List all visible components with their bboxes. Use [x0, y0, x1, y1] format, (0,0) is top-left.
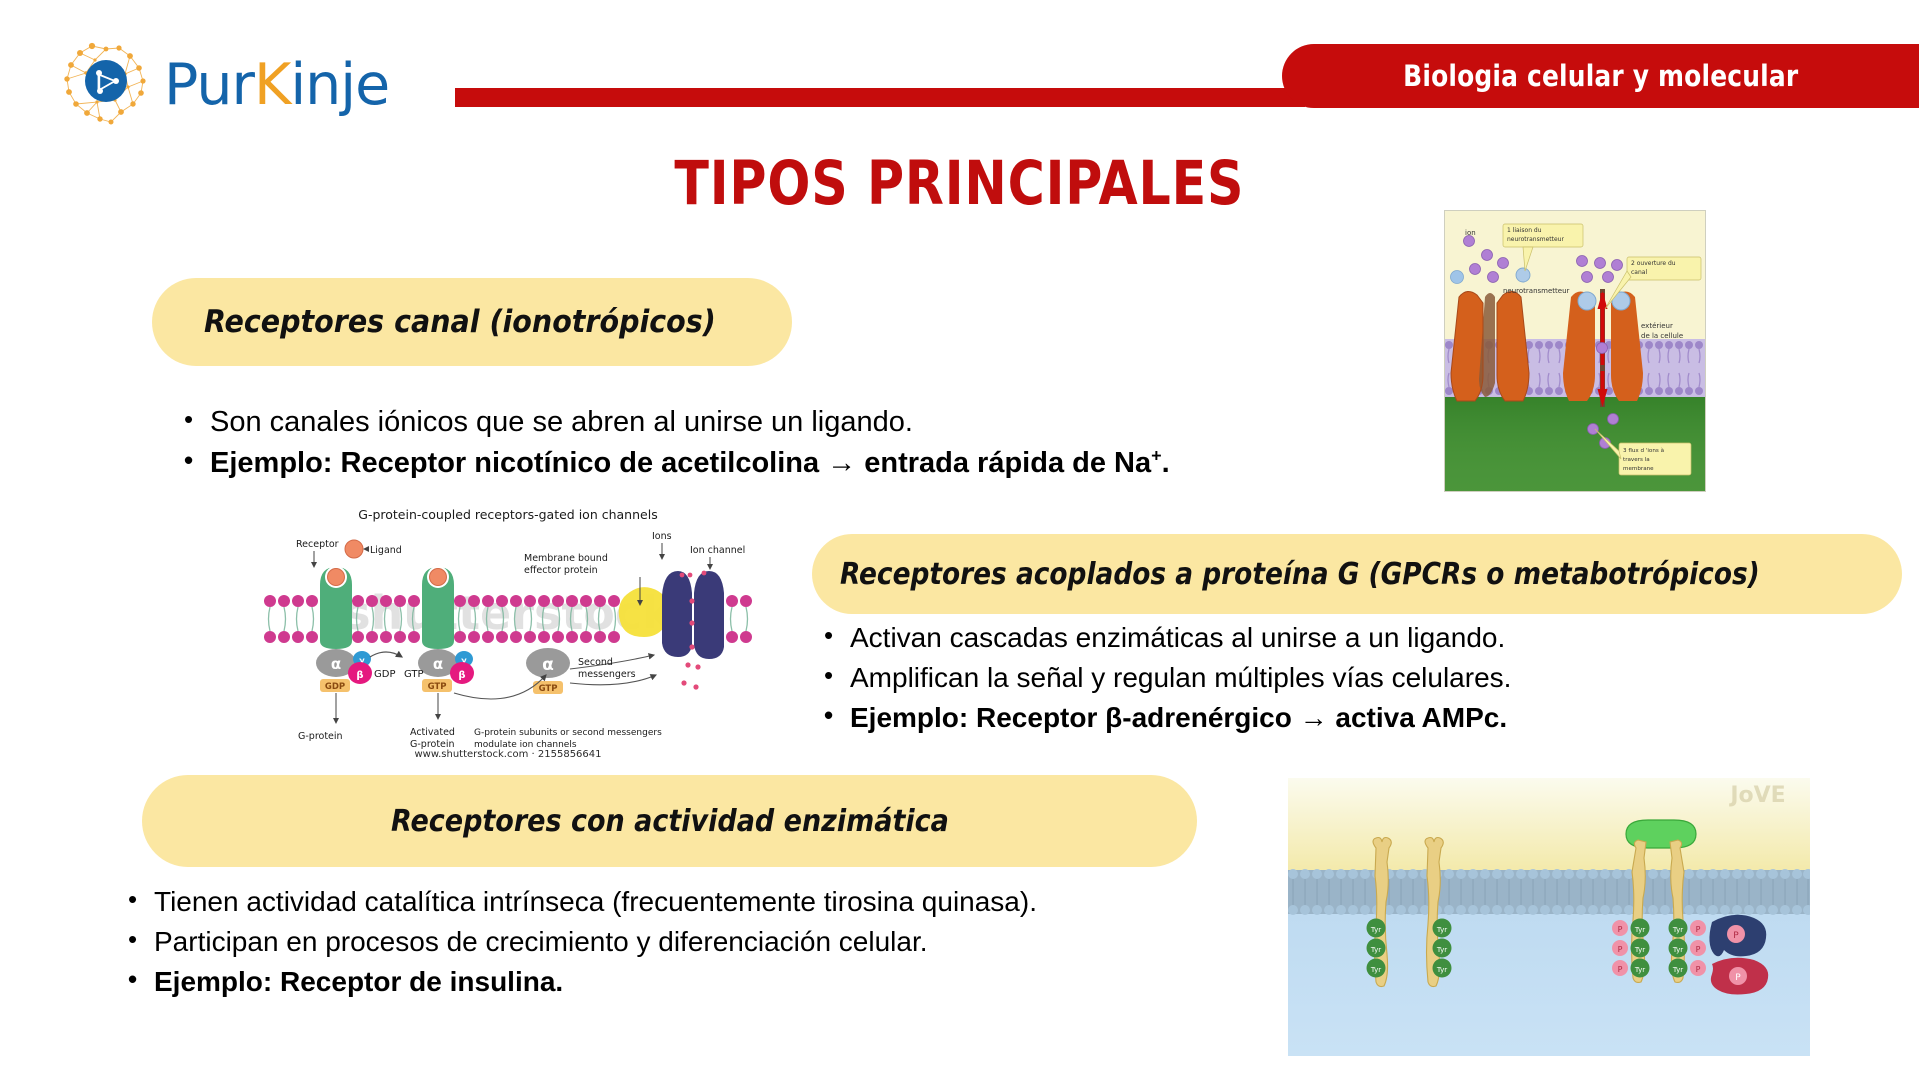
section-heading-label: Receptores con actividad enzimática — [391, 804, 949, 839]
svg-text:Ions: Ions — [652, 531, 672, 542]
svg-text:Receptor: Receptor — [296, 539, 339, 550]
page-header: PurKinje Biologia celular y molecular — [0, 0, 1919, 130]
purkinje-brain-network-logo-icon — [62, 40, 154, 126]
svg-text:Tyr: Tyr — [1370, 946, 1381, 954]
svg-text:de la cellule: de la cellule — [1641, 332, 1683, 340]
svg-text:Tyr: Tyr — [1436, 966, 1447, 974]
svg-text:P: P — [1696, 945, 1701, 954]
section-heading-label: Receptores canal (ionotrópicos) — [204, 304, 716, 340]
list-item: Ejemplo: Receptor de insulina. — [124, 962, 1037, 1002]
list-item: Amplifican la señal y regulan múltiples … — [820, 658, 1511, 698]
svg-text:Tyr: Tyr — [1634, 966, 1645, 974]
svg-text:Tyr: Tyr — [1634, 946, 1645, 954]
svg-text:Activated: Activated — [410, 727, 455, 738]
course-banner: Biologia celular y molecular — [1282, 44, 1919, 108]
bullet-list-enzymatic: Tienen actividad catalítica intrínseca (… — [124, 882, 1037, 1001]
svg-text:Tyr: Tyr — [1672, 926, 1683, 934]
list-item: Ejemplo: Receptor nicotínico de acetilco… — [180, 443, 1170, 484]
svg-text:Tyr: Tyr — [1436, 946, 1447, 954]
svg-text:P: P — [1735, 973, 1741, 983]
svg-text:Tyr: Tyr — [1672, 946, 1683, 954]
svg-text:GDP: GDP — [374, 669, 395, 680]
svg-text:β: β — [458, 670, 465, 681]
svg-text:neurotransmetteur: neurotransmetteur — [1503, 287, 1570, 295]
section-heading-ionotropic: Receptores canal (ionotrópicos) — [152, 278, 792, 366]
list-item: Tienen actividad catalítica intrínseca (… — [124, 882, 1037, 922]
svg-text:GTP: GTP — [428, 682, 447, 692]
svg-text:α: α — [542, 655, 554, 675]
svg-text:Ion channel: Ion channel — [690, 545, 745, 556]
svg-text:Tyr: Tyr — [1634, 926, 1645, 934]
list-item-text: Ejemplo: Receptor nicotínico de acetilco… — [210, 447, 1151, 479]
svg-text:GDP: GDP — [325, 682, 345, 692]
svg-text:canal: canal — [1631, 269, 1647, 276]
svg-text:Tyr: Tyr — [1370, 966, 1381, 974]
svg-text:P: P — [1618, 965, 1623, 974]
svg-text:2 ouverture du: 2 ouverture du — [1631, 260, 1676, 267]
svg-text:1 liaison du: 1 liaison du — [1507, 227, 1542, 234]
figure-ligand-gated-ion-channel: 1 liaison du neurotransmetteur 2 ouvertu… — [1444, 210, 1706, 492]
page-title: TIPOS PRINCIPALES — [0, 148, 1919, 219]
svg-text:Tyr: Tyr — [1672, 966, 1683, 974]
section-heading-label: Receptores acoplados a proteína G (GPCRs… — [840, 557, 1760, 592]
svg-text:G-protein: G-protein — [298, 731, 343, 742]
svg-text:ion: ion — [1465, 229, 1476, 237]
list-item: Ejemplo: Receptor β-adrenérgico → activa… — [820, 698, 1511, 738]
section-heading-gpcr: Receptores acoplados a proteína G (GPCRs… — [812, 534, 1902, 614]
svg-text:α: α — [331, 655, 341, 673]
logo-word-k: K — [254, 52, 290, 118]
svg-text:α: α — [433, 655, 443, 673]
svg-text:JoVE: JoVE — [1728, 783, 1785, 808]
figure-gpcr-gated-ion-channels: G-protein-coupled receptors-gated ion ch… — [258, 497, 758, 759]
svg-text:GTP: GTP — [404, 669, 424, 680]
brand-logo[interactable]: PurKinje — [62, 40, 389, 126]
header-rule-divider — [455, 88, 1305, 107]
logo-word-part1: Pur — [164, 52, 254, 118]
svg-text:G-protein-coupled receptors-ga: G-protein-coupled receptors-gated ion ch… — [358, 507, 657, 522]
list-item-tail: . — [1162, 447, 1170, 479]
svg-text:P: P — [1696, 965, 1701, 974]
svg-text:P: P — [1733, 931, 1739, 941]
course-banner-title: Biologia celular y molecular — [1403, 59, 1798, 93]
page-title-text: TIPOS PRINCIPALES — [674, 148, 1244, 219]
svg-text:G-protein subunits or second m: G-protein subunits or second messengers — [474, 728, 662, 738]
svg-text:P: P — [1696, 925, 1701, 934]
svg-text:P: P — [1618, 925, 1623, 934]
logo-word-part2: inje — [290, 52, 389, 118]
list-item: Activan cascadas enzimáticas al unirse a… — [820, 618, 1511, 658]
section-heading-enzymatic: Receptores con actividad enzimática — [142, 775, 1197, 867]
svg-text:P: P — [1618, 945, 1623, 954]
svg-text:Ligand: Ligand — [370, 545, 402, 556]
figure-receptor-tyrosine-kinase: Tyr Tyr Tyr Tyr Tyr Tyr Tyr Tyr Tyr P P … — [1288, 778, 1810, 1056]
list-item: Participan en procesos de crecimiento y … — [124, 922, 1037, 962]
bullet-list-ionotropic: Son canales iónicos que se abren al unir… — [180, 402, 1170, 484]
svg-text:travers la: travers la — [1623, 457, 1650, 463]
list-item: Son canales iónicos que se abren al unir… — [180, 402, 1170, 443]
svg-text:3 flux d 'ions à: 3 flux d 'ions à — [1623, 447, 1664, 454]
brand-wordmark: PurKinje — [164, 57, 389, 114]
svg-text:Membrane bound: Membrane bound — [524, 553, 608, 564]
superscript-charge: + — [1151, 446, 1162, 466]
svg-text:extérieur: extérieur — [1641, 322, 1673, 330]
svg-text:membrane: membrane — [1623, 466, 1654, 472]
svg-text:neurotransmetteur: neurotransmetteur — [1507, 236, 1564, 243]
svg-text:β: β — [356, 670, 363, 681]
svg-text:GTP: GTP — [539, 684, 558, 694]
svg-text:Tyr: Tyr — [1436, 926, 1447, 934]
svg-text:Tyr: Tyr — [1370, 926, 1381, 934]
svg-text:Second: Second — [578, 657, 613, 668]
svg-text:www.shutterstock.com · 2155856: www.shutterstock.com · 2155856641 — [414, 749, 601, 759]
bullet-list-gpcr: Activan cascadas enzimáticas al unirse a… — [820, 618, 1511, 737]
svg-text:effector protein: effector protein — [524, 565, 598, 576]
svg-text:messengers: messengers — [578, 669, 636, 680]
